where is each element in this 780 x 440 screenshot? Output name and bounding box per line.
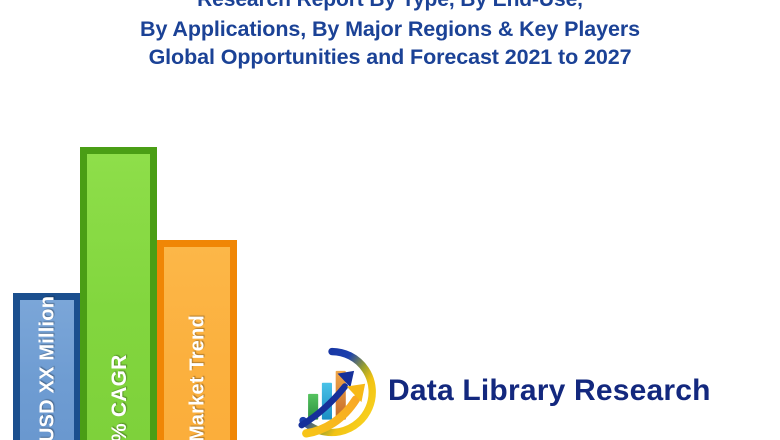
headline-block: Research Report By Type, By End-Use, By … [0, 0, 780, 72]
bar-market-trend: Market Trend [157, 240, 237, 440]
bar-percent-cagr-label: % CAGR [108, 354, 132, 440]
headline-line-2: By Applications, By Major Regions & Key … [0, 15, 780, 44]
bar-usd-million-label: USD XX Million [36, 296, 59, 440]
brand-logo: Data Library Research [286, 344, 716, 440]
bar-percent-cagr: % CAGR [80, 147, 157, 440]
report-banner: Research Report By Type, By End-Use, By … [0, 0, 780, 440]
headline-line-3: Global Opportunities and Forecast 2021 t… [0, 43, 780, 72]
headline-line-1: Research Report By Type, By End-Use, [0, 0, 780, 15]
bar-market-trend-label: Market Trend [186, 315, 209, 440]
bar-chart-arrow-circle-logo-icon [286, 346, 378, 438]
brand-name-text: Data Library Research [388, 376, 711, 408]
bar-usd-million: USD XX Million [13, 293, 81, 440]
